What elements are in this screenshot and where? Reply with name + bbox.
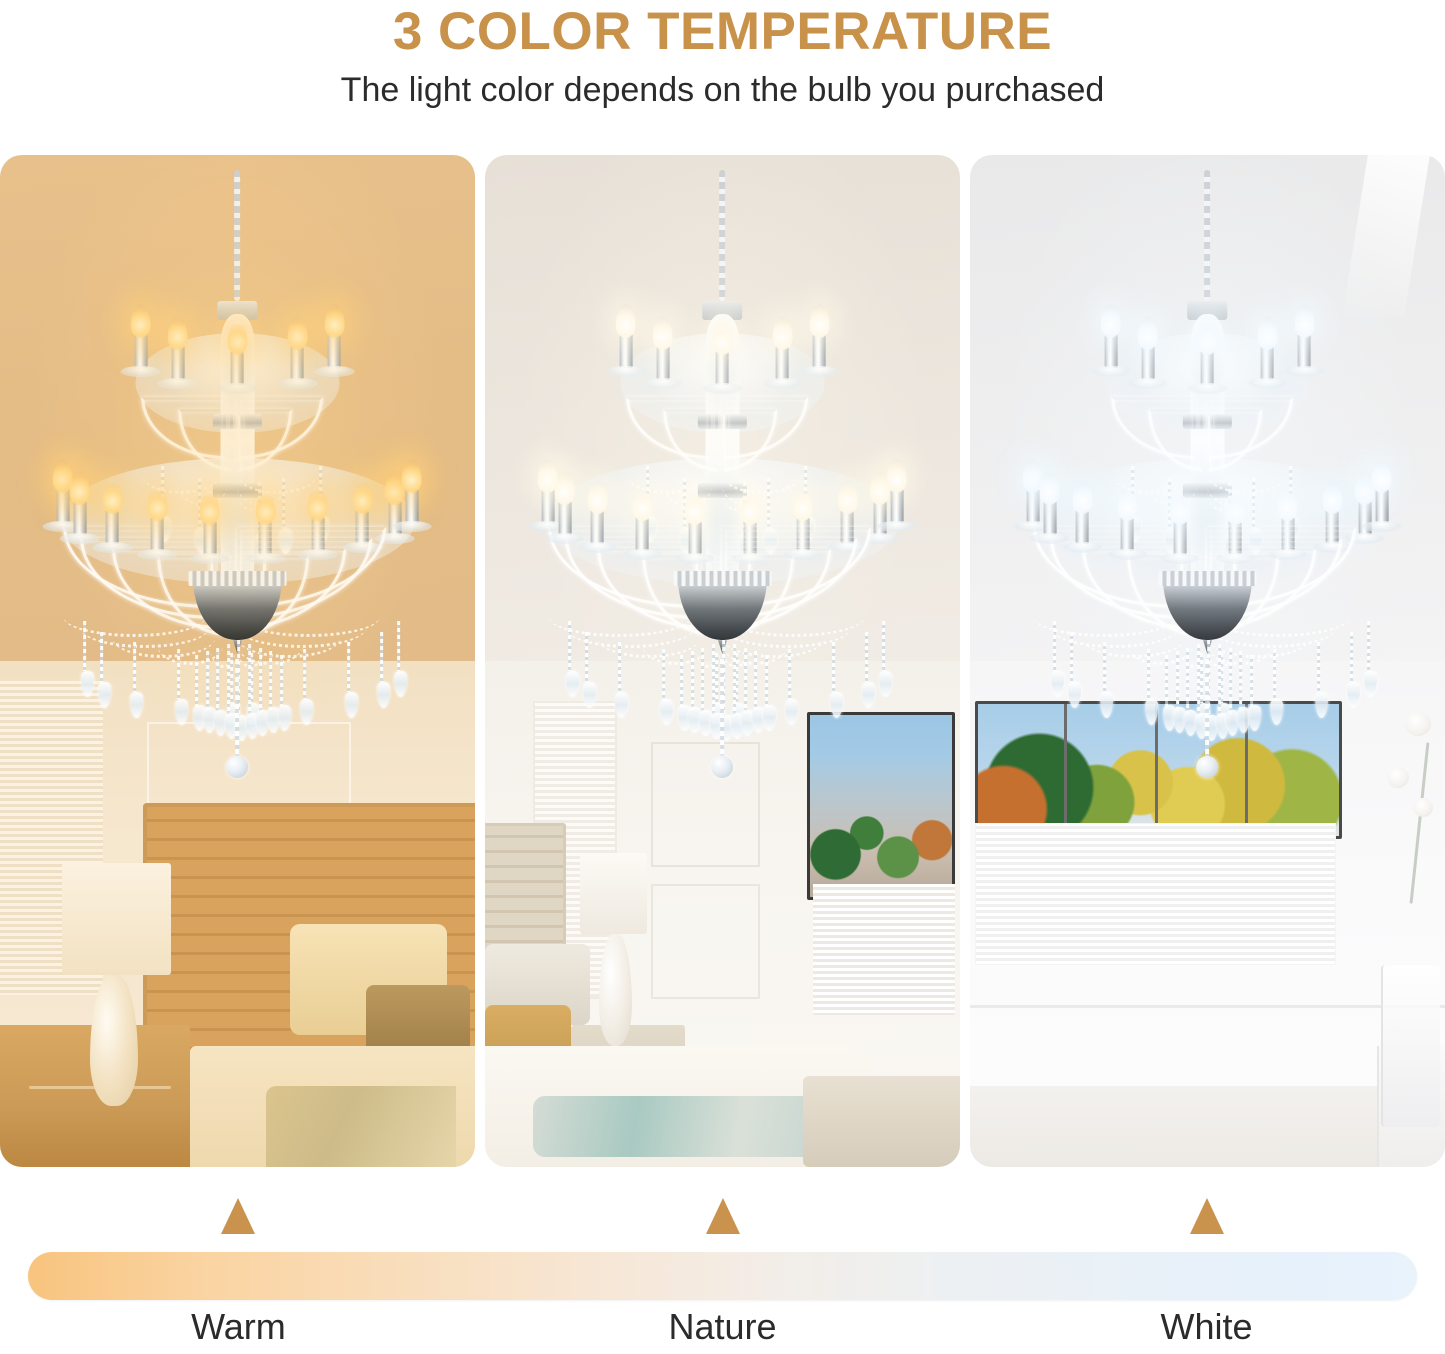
crystal-bead-string bbox=[680, 655, 683, 709]
light-bulb bbox=[168, 316, 188, 350]
chandelier-finial-ball bbox=[227, 756, 249, 778]
candle-sleeve bbox=[716, 351, 729, 385]
crystal-bead-string bbox=[1317, 642, 1320, 692]
crystal-drop bbox=[81, 671, 94, 697]
chandelier-candle bbox=[1376, 489, 1389, 523]
candle-sleeve bbox=[291, 346, 304, 380]
crystal-bead-string bbox=[206, 651, 209, 712]
chandelier-swag bbox=[1208, 453, 1287, 494]
page-title: 3 COLOR TEMPERATURE bbox=[0, 4, 1445, 60]
crystal-bead-string bbox=[1200, 653, 1203, 703]
chandelier-arm bbox=[1208, 397, 1293, 459]
candle-sleeve bbox=[636, 517, 649, 551]
crystal-bead-string bbox=[1197, 644, 1200, 719]
light-bulb bbox=[1101, 304, 1121, 338]
chandelier-candle bbox=[74, 501, 87, 535]
table-lamp-shade bbox=[580, 853, 647, 934]
chandelier-candle bbox=[151, 517, 164, 551]
candle-bobeche bbox=[158, 378, 198, 389]
candle-bobeche bbox=[1284, 366, 1324, 377]
crystal-bead-string bbox=[1186, 648, 1189, 716]
crystal-bead-string bbox=[715, 653, 718, 703]
crystal-bead-string bbox=[754, 651, 757, 712]
crystal-drop bbox=[300, 699, 313, 725]
bed-bench bbox=[803, 1076, 960, 1167]
candle-sleeve bbox=[1141, 346, 1154, 380]
legend-label-warm: Warm bbox=[191, 1306, 286, 1348]
candle-sleeve bbox=[171, 346, 184, 380]
orchid-flower bbox=[1413, 798, 1433, 817]
crystal-drop bbox=[1145, 699, 1158, 725]
chandelier-white bbox=[987, 157, 1429, 784]
light-bulb bbox=[772, 316, 792, 350]
chandelier-drop-rope bbox=[1206, 659, 1210, 759]
chandelier-candle bbox=[1076, 510, 1089, 544]
candle-bobeche bbox=[314, 366, 354, 377]
crystal-bead-string bbox=[380, 632, 383, 682]
candle-sleeve bbox=[541, 489, 554, 523]
crystal-bead-string bbox=[618, 642, 621, 692]
candle-bobeche bbox=[137, 549, 177, 560]
light-bulb bbox=[1040, 471, 1060, 505]
vase bbox=[1381, 965, 1440, 1127]
candle-bobeche bbox=[1247, 378, 1287, 389]
chandelier-candle bbox=[591, 510, 604, 544]
light-bulb bbox=[887, 459, 907, 493]
candle-sleeve bbox=[56, 489, 69, 523]
candle-bobeche bbox=[877, 521, 917, 532]
candle-bobeche bbox=[1107, 549, 1147, 560]
chandelier-candle bbox=[1104, 334, 1117, 368]
crystal-bead-string bbox=[397, 621, 400, 671]
legend-labels: WarmNatureWhite bbox=[0, 1306, 1445, 1354]
chandelier-chain bbox=[235, 170, 241, 302]
crystal-drop bbox=[1100, 692, 1113, 718]
chandelier-candle bbox=[1261, 346, 1274, 380]
candle-bobeche bbox=[1091, 366, 1131, 377]
crystal-bead-string bbox=[712, 644, 715, 719]
candle-sleeve bbox=[406, 489, 419, 523]
floor bbox=[970, 1086, 1445, 1167]
crystal-drop bbox=[1347, 682, 1360, 708]
crystal-bead-string bbox=[765, 655, 768, 709]
candle-bobeche bbox=[121, 366, 161, 377]
chandelier-candle bbox=[619, 334, 632, 368]
crystal-bead-string bbox=[865, 632, 868, 682]
crystal-bead-string bbox=[259, 648, 262, 716]
window-shade bbox=[813, 884, 956, 1016]
color-temperature-legend: WarmNatureWhite bbox=[0, 1190, 1445, 1354]
candle-bobeche bbox=[93, 542, 133, 553]
chandelier-arm bbox=[723, 397, 808, 459]
light-bulb bbox=[555, 471, 575, 505]
candle-sleeve bbox=[74, 501, 87, 535]
wall-molding bbox=[651, 884, 760, 999]
bed-throw bbox=[533, 1096, 828, 1157]
candle-sleeve bbox=[1201, 351, 1214, 385]
crystal-bead-string bbox=[227, 644, 230, 719]
crystal-drop bbox=[785, 699, 798, 725]
crystal-bead-string bbox=[1165, 655, 1168, 709]
crystal-drop bbox=[615, 692, 628, 718]
crystal-bead-string bbox=[882, 621, 885, 671]
bed-throw bbox=[266, 1086, 456, 1167]
chandelier-bowl-band bbox=[1159, 571, 1256, 586]
chandelier-warm bbox=[17, 157, 459, 784]
crystal-drop bbox=[830, 692, 843, 718]
crystal-bead-string bbox=[1367, 621, 1370, 671]
crystal-drop bbox=[1051, 671, 1064, 697]
chandelier-candle bbox=[1201, 351, 1214, 385]
crystal-drop bbox=[1270, 699, 1283, 725]
window-shade bbox=[975, 823, 1336, 965]
crystal-bead-string bbox=[100, 632, 103, 682]
chandelier-candle bbox=[656, 346, 669, 380]
light-bulb bbox=[1138, 316, 1158, 350]
candle-sleeve bbox=[619, 334, 632, 368]
crystal-bead-string bbox=[178, 649, 181, 699]
candle-sleeve bbox=[813, 334, 826, 368]
candle-sleeve bbox=[328, 334, 341, 368]
candle-sleeve bbox=[1044, 501, 1057, 535]
candle-sleeve bbox=[1376, 489, 1389, 523]
chandelier-candle bbox=[171, 346, 184, 380]
candle-sleeve bbox=[106, 510, 119, 544]
chandelier-drop-rope bbox=[721, 659, 725, 759]
light-bulb bbox=[616, 304, 636, 338]
crystal-bead-string bbox=[195, 655, 198, 709]
light-bulb bbox=[402, 459, 422, 493]
chandelier-candle bbox=[688, 521, 701, 555]
chandelier-candle bbox=[56, 489, 69, 523]
crystal-drop bbox=[763, 705, 776, 731]
crystal-drop bbox=[1364, 671, 1377, 697]
panel-nature bbox=[485, 155, 960, 1167]
chandelier-chain bbox=[1205, 170, 1211, 302]
chandelier-candle bbox=[891, 489, 904, 523]
candle-sleeve bbox=[656, 346, 669, 380]
panel-white bbox=[970, 155, 1445, 1167]
candle-bobeche bbox=[392, 521, 432, 532]
candle-bobeche bbox=[1128, 378, 1168, 389]
chandelier-finial-ball bbox=[1197, 756, 1219, 778]
crystal-drop bbox=[583, 682, 596, 708]
candle-bobeche bbox=[675, 553, 715, 564]
crystal-bead-string bbox=[832, 642, 835, 692]
chandelier-drop-rope bbox=[236, 659, 240, 759]
crystal-bead-string bbox=[1239, 651, 1242, 712]
candle-sleeve bbox=[1076, 510, 1089, 544]
crystal-bead-string bbox=[701, 648, 704, 716]
candle-bobeche bbox=[799, 366, 839, 377]
crystal-drop bbox=[345, 692, 358, 718]
chandelier-candle bbox=[1173, 521, 1186, 555]
chandelier-candle bbox=[776, 346, 789, 380]
light-bulb bbox=[809, 304, 829, 338]
candle-bobeche bbox=[1188, 383, 1228, 394]
crystal-bead-string bbox=[1229, 648, 1232, 716]
crystal-drop bbox=[394, 671, 407, 697]
candle-sleeve bbox=[776, 346, 789, 380]
candle-bobeche bbox=[762, 378, 802, 389]
crystal-drop bbox=[1315, 692, 1328, 718]
light-bulb bbox=[287, 316, 307, 350]
crystal-bead-string bbox=[1103, 642, 1106, 692]
light-bulb bbox=[1294, 304, 1314, 338]
panel-warm bbox=[0, 155, 475, 1167]
temperature-gradient-bar bbox=[28, 1252, 1417, 1300]
legend-marker-white bbox=[1190, 1198, 1224, 1234]
candle-sleeve bbox=[151, 517, 164, 551]
table-lamp-base bbox=[90, 975, 138, 1107]
crystal-bead-string bbox=[1250, 655, 1253, 709]
crystal-bead-string bbox=[1070, 632, 1073, 682]
candle-sleeve bbox=[1261, 346, 1274, 380]
candle-sleeve bbox=[559, 501, 572, 535]
candle-bobeche bbox=[1160, 553, 1200, 564]
candle-bobeche bbox=[578, 542, 618, 553]
crystal-drop bbox=[175, 699, 188, 725]
candle-sleeve bbox=[591, 510, 604, 544]
candle-sleeve bbox=[1298, 334, 1311, 368]
chandelier-candle bbox=[559, 501, 572, 535]
crystal-bead-string bbox=[347, 642, 350, 692]
crystal-bead-string bbox=[280, 655, 283, 709]
candle-sleeve bbox=[1121, 517, 1134, 551]
light-bulb bbox=[70, 471, 90, 505]
chandelier-candle bbox=[1044, 501, 1057, 535]
candle-bobeche bbox=[1362, 521, 1402, 532]
header: 3 COLOR TEMPERATURE The light color depe… bbox=[0, 0, 1445, 109]
wall-trim bbox=[970, 1005, 1445, 1008]
light-bulb bbox=[653, 316, 673, 350]
candle-bobeche bbox=[190, 553, 230, 564]
candle-sleeve bbox=[1026, 489, 1039, 523]
chandelier-candle bbox=[1141, 346, 1154, 380]
legend-markers bbox=[0, 1190, 1445, 1242]
chandelier-bowl-band bbox=[189, 571, 286, 586]
crystal-bead-string bbox=[733, 644, 736, 719]
crystal-bead-string bbox=[1176, 651, 1179, 712]
crystal-drop bbox=[1068, 682, 1081, 708]
chandelier-nature bbox=[502, 157, 944, 784]
crystal-drop bbox=[377, 682, 390, 708]
crystal-bead-string bbox=[1148, 649, 1151, 699]
chandelier-bowl-band bbox=[674, 571, 771, 586]
table-lamp-shade bbox=[62, 863, 171, 974]
candle-sleeve bbox=[134, 334, 147, 368]
light-bulb bbox=[1257, 316, 1277, 350]
crystal-drop bbox=[278, 705, 291, 731]
candle-sleeve bbox=[231, 351, 244, 385]
candle-sleeve bbox=[1104, 334, 1117, 368]
crystal-bead-string bbox=[1218, 644, 1221, 719]
candle-bobeche bbox=[277, 378, 317, 389]
crystal-bead-string bbox=[248, 644, 251, 719]
chandelier-candle bbox=[541, 489, 554, 523]
crystal-bead-string bbox=[1350, 632, 1353, 682]
crystal-bead-string bbox=[691, 651, 694, 712]
candle-bobeche bbox=[1030, 533, 1070, 544]
candle-bobeche bbox=[703, 383, 743, 394]
legend-marker-nature bbox=[706, 1198, 740, 1234]
candle-bobeche bbox=[1063, 542, 1103, 553]
chandelier-candle bbox=[328, 334, 341, 368]
chandelier-swag bbox=[238, 453, 317, 494]
light-bulb bbox=[131, 304, 151, 338]
crystal-drop bbox=[98, 682, 111, 708]
chandelier-candle bbox=[406, 489, 419, 523]
chandelier-candle bbox=[716, 351, 729, 385]
chandelier-candle bbox=[1026, 489, 1039, 523]
chandelier-candle bbox=[1298, 334, 1311, 368]
temperature-panels bbox=[0, 155, 1445, 1167]
chandelier-candle bbox=[291, 346, 304, 380]
page-subtitle: The light color depends on the bulb you … bbox=[0, 72, 1445, 109]
chandelier-arm bbox=[238, 397, 323, 459]
crystal-bead-string bbox=[230, 653, 233, 703]
candle-sleeve bbox=[688, 521, 701, 555]
candle-bobeche bbox=[622, 549, 662, 560]
crystal-bead-string bbox=[269, 651, 272, 712]
crystal-drop bbox=[862, 682, 875, 708]
crystal-bead-string bbox=[663, 649, 666, 699]
light-bulb bbox=[1372, 459, 1392, 493]
crystal-drop bbox=[130, 692, 143, 718]
candle-bobeche bbox=[218, 383, 258, 394]
crystal-bead-string bbox=[744, 648, 747, 716]
crystal-drop bbox=[566, 671, 579, 697]
crystal-bead-string bbox=[216, 648, 219, 716]
crystal-drop bbox=[1248, 705, 1261, 731]
legend-label-white: White bbox=[1161, 1306, 1253, 1348]
chandelier-swag bbox=[723, 453, 802, 494]
chandelier-candle bbox=[134, 334, 147, 368]
candle-bobeche bbox=[606, 366, 646, 377]
chandelier-candle bbox=[203, 521, 216, 555]
crystal-drop bbox=[879, 671, 892, 697]
candle-sleeve bbox=[891, 489, 904, 523]
candle-bobeche bbox=[545, 533, 585, 544]
chandelier-candle bbox=[1121, 517, 1134, 551]
candle-bobeche bbox=[643, 378, 683, 389]
chandelier-candle bbox=[636, 517, 649, 551]
light-bulb bbox=[324, 304, 344, 338]
legend-label-nature: Nature bbox=[668, 1306, 776, 1348]
chandelier-candle bbox=[231, 351, 244, 385]
candle-sleeve bbox=[1173, 521, 1186, 555]
crystal-bead-string bbox=[133, 642, 136, 692]
chandelier-candle bbox=[813, 334, 826, 368]
chandelier-chain bbox=[720, 170, 726, 302]
chandelier-finial-ball bbox=[712, 756, 734, 778]
chandelier-candle bbox=[106, 510, 119, 544]
candle-bobeche bbox=[60, 533, 100, 544]
legend-marker-warm bbox=[221, 1198, 255, 1234]
crystal-drop bbox=[660, 699, 673, 725]
candle-sleeve bbox=[203, 521, 216, 555]
crystal-bead-string bbox=[585, 632, 588, 682]
